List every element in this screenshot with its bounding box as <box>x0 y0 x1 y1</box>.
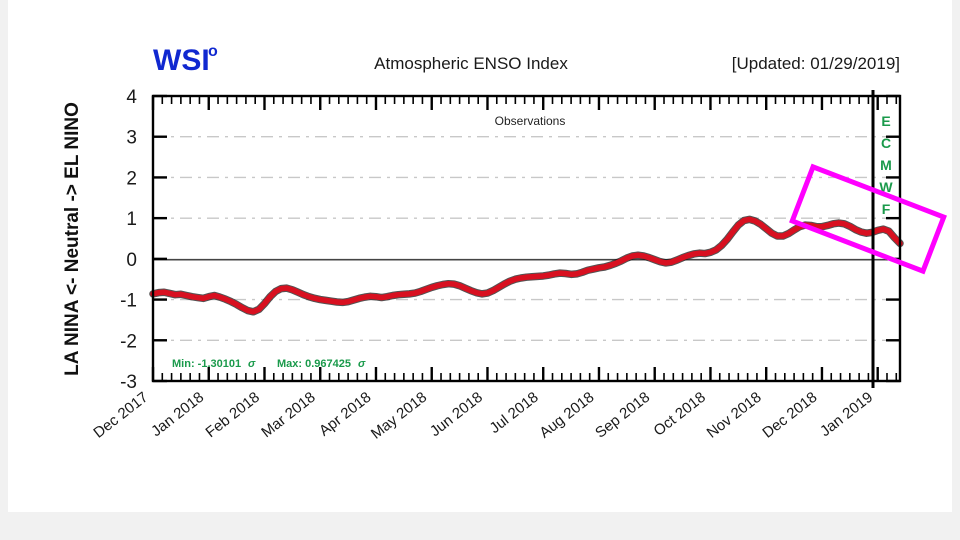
x-tick-label: May 2018 <box>368 389 430 443</box>
y-tick-label: -1 <box>120 291 137 312</box>
chart-title: Atmospheric ENSO Index <box>374 54 568 73</box>
x-tick-label: Jan 2018 <box>148 389 207 440</box>
ecmwf-letter: E <box>881 113 890 129</box>
wsi-logo: WSI <box>153 44 210 77</box>
x-tick-label: Sep 2018 <box>592 389 653 442</box>
x-tick-label: Jul 2018 <box>487 389 542 437</box>
y-tick-label: 2 <box>126 168 137 189</box>
ecmwf-letter: M <box>880 157 892 173</box>
max-stat-sigma: σ <box>358 358 366 370</box>
y-axis-tick-labels: 43210-1-2-3 <box>120 87 137 393</box>
enso-index-chart: 43210-1-2-3 Dec 2017Jan 2018Feb 2018Mar … <box>0 0 960 540</box>
max-stat-label: Max: 0.967425 <box>277 358 351 370</box>
y-tick-label: 1 <box>126 209 137 230</box>
ecmwf-letter: C <box>881 135 891 151</box>
x-tick-label: Oct 2018 <box>650 389 708 440</box>
y-tick-label: 3 <box>126 128 137 149</box>
y-tick-label: -3 <box>120 372 137 393</box>
x-tick-label: Mar 2018 <box>258 389 318 441</box>
x-tick-label: Apr 2018 <box>316 389 374 440</box>
y-axis-title: LA NINA <- Neutral -> EL NINO <box>62 102 83 376</box>
screenshot-root: 43210-1-2-3 Dec 2017Jan 2018Feb 2018Mar … <box>0 0 960 540</box>
x-tick-label: Aug 2018 <box>536 389 597 442</box>
y-tick-label: -2 <box>120 331 137 352</box>
x-tick-label: Dec 2018 <box>759 389 820 442</box>
min-stat-label: Min: -1.30101 <box>172 358 241 370</box>
plot-background <box>153 96 900 381</box>
x-tick-label: Nov 2018 <box>704 389 765 442</box>
min-stat-sigma: σ <box>248 358 256 370</box>
x-tick-label: Dec 2017 <box>90 389 151 442</box>
x-tick-label: Jan 2019 <box>817 389 876 440</box>
x-axis-tick-labels: Dec 2017Jan 2018Feb 2018Mar 2018Apr 2018… <box>90 389 876 443</box>
y-tick-label: 0 <box>126 250 137 271</box>
observations-label: Observations <box>495 114 566 128</box>
y-tick-label: 4 <box>126 87 137 108</box>
ecmwf-letter: F <box>882 201 891 217</box>
x-tick-label: Feb 2018 <box>203 389 263 441</box>
updated-timestamp: [Updated: 01/29/2019] <box>732 54 900 73</box>
x-tick-label: Jun 2018 <box>427 389 486 440</box>
wsi-logo-degree: o <box>208 43 218 60</box>
